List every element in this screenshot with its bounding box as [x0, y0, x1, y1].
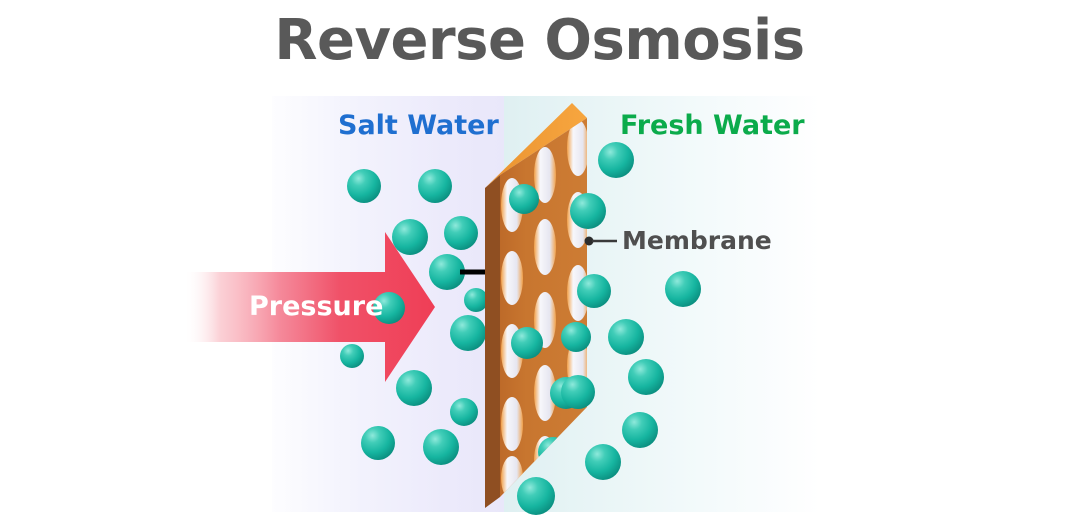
fresh-water-label: Fresh Water — [620, 110, 805, 141]
pressure-label: Pressure — [249, 291, 383, 322]
fresh-water-region-background — [504, 96, 820, 512]
salt-water-label: Salt Water — [338, 110, 499, 141]
membrane-label: Membrane — [622, 226, 772, 255]
page-title: Reverse Osmosis — [0, 6, 1079, 76]
diagram-canvas: Reverse Osmosis — [0, 0, 1079, 528]
